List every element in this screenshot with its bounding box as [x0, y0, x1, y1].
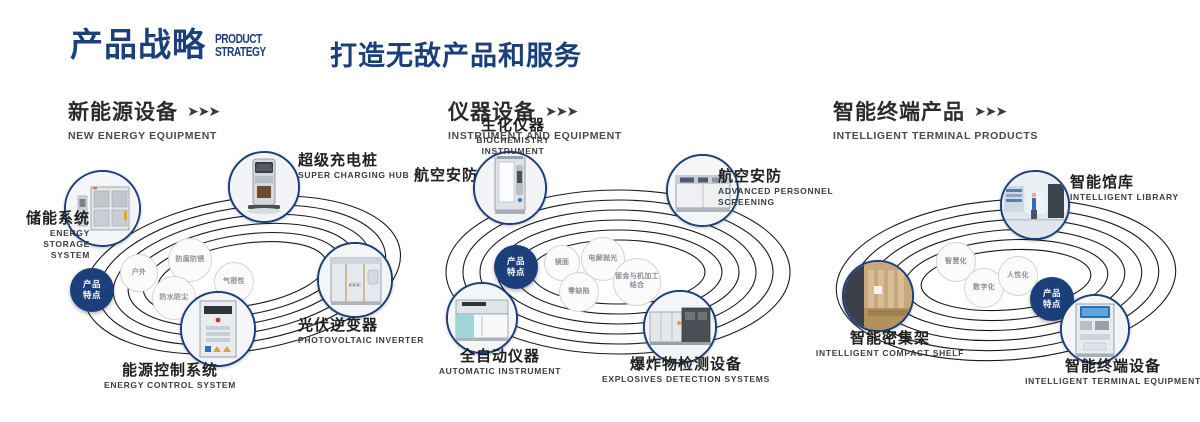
core-label-line1: 产品 — [1043, 288, 1061, 299]
node-photovoltaic-inverter[interactable] — [317, 242, 393, 318]
page-header: 产品战略 PRODUCT STRATEGY — [70, 28, 280, 61]
library-interior-photo — [1002, 172, 1068, 238]
page-title: 产品战略 — [70, 28, 206, 61]
node-label-cn: 智能终端设备 — [1018, 358, 1200, 375]
inverter-cabinet-photo — [319, 244, 391, 316]
node-label-intelligent-library: 智能馆库 INTELLIGENT LIBRARY — [1070, 174, 1200, 203]
compact-shelf-photo — [844, 262, 912, 330]
cluster-new-energy: 防腐防锈 户外 防水防尘 气密性 产品 特点 储能系 — [40, 150, 440, 400]
node-label-photovoltaic-inverter: 光伏逆变器 PHOTOVOLTAIC INVERTER — [298, 317, 438, 346]
node-label-cn: 爆炸物检测设备 — [596, 356, 776, 373]
node-label-cn: 全自动仪器 — [410, 348, 590, 365]
control-cabinet-photo — [182, 293, 254, 365]
node-label-en: INTELLIGENT COMPACT SHELF — [800, 348, 980, 359]
title-en-line2: STRATEGY — [215, 46, 266, 58]
charging-pile-photo — [230, 153, 298, 221]
section-title-cn: 新能源设备 — [68, 96, 178, 126]
node-label-energy-storage: 储能系统 ENERGY STORAGE SYSTEM — [8, 210, 90, 260]
node-label-en: INTELLIGENT TERMINAL EQUIPMENT — [1018, 376, 1200, 387]
node-label-cn: 生化仪器 — [448, 117, 578, 134]
feature-bubble: 户外 — [120, 254, 158, 292]
core-bubble-product-features: 产品 特点 — [70, 268, 114, 312]
node-label-cn: 智能馆库 — [1070, 174, 1200, 191]
core-bubble-product-features: 产品 特点 — [494, 245, 538, 289]
chevron-triple-icon: ➤➤➤ — [187, 103, 219, 120]
automatic-analyzer-photo — [448, 284, 516, 352]
node-label-en: ENERGY STORAGE SYSTEM — [8, 228, 90, 260]
section-title-cn: 智能终端产品 — [833, 96, 965, 126]
node-super-charging-hub[interactable] — [228, 151, 300, 223]
section-title-en: NEW ENERGY EQUIPMENT — [68, 130, 219, 142]
node-label-cn: 储能系统 — [8, 210, 90, 227]
node-label-cn: 能源控制系统 — [80, 362, 260, 379]
biochemistry-scanner-photo — [475, 153, 545, 223]
node-automatic-instrument[interactable] — [446, 282, 518, 354]
node-biochemistry-instrument[interactable] — [473, 151, 547, 225]
core-label-line2: 特点 — [507, 267, 525, 278]
node-label-aviation-security-left: 航空安防 — [396, 167, 478, 184]
node-label-cn: 智能密集架 — [800, 330, 980, 347]
node-label-explosives-detection: 爆炸物检测设备 EXPLOSIVES DETECTION SYSTEMS — [596, 356, 776, 385]
section-heading-intelligent: 智能终端产品➤➤➤ INTELLIGENT TERMINAL PRODUCTS — [833, 96, 1038, 142]
feature-bubble: 钣金与机加工结合 — [613, 258, 661, 306]
product-strategy-infographic: 产品战略 PRODUCT STRATEGY 打造无敌产品和服务 新能源设备➤➤➤… — [0, 0, 1200, 422]
section-heading-new-energy: 新能源设备➤➤➤ NEW ENERGY EQUIPMENT — [68, 96, 219, 142]
core-label-line2: 特点 — [1043, 299, 1061, 310]
node-label-intelligent-compact-shelf: 智能密集架 INTELLIGENT COMPACT SHELF — [800, 330, 980, 359]
node-label-en: ENERGY CONTROL SYSTEM — [80, 380, 260, 391]
core-label-line1: 产品 — [83, 279, 101, 290]
node-label-en: AUTOMATIC INSTRUMENT — [410, 366, 590, 377]
node-intelligent-compact-shelf[interactable] — [842, 260, 914, 332]
core-label-line2: 特点 — [83, 290, 101, 301]
feature-bubble: 零缺陷 — [559, 272, 599, 312]
chevron-triple-icon: ➤➤➤ — [974, 103, 1006, 120]
node-label-cn: 光伏逆变器 — [298, 317, 438, 334]
node-label-en: INTELLIGENT LIBRARY — [1070, 192, 1200, 203]
page-title-english: PRODUCT STRATEGY — [215, 33, 266, 61]
node-label-automatic-instrument: 全自动仪器 AUTOMATIC INSTRUMENT — [410, 348, 590, 377]
node-label-en: EXPLOSIVES DETECTION SYSTEMS — [596, 374, 776, 385]
node-explosives-detection[interactable] — [643, 290, 717, 364]
cluster-intelligent-terminal: 智慧化 数字化 人性化 产品 特点 智能馆 — [808, 152, 1200, 402]
cluster-instrument: 镜面 电解抛光 零缺陷 钣金与机加工结合 产品 特点 航空安防 — [418, 150, 818, 400]
node-label-energy-control-system: 能源控制系统 ENERGY CONTROL SYSTEM — [80, 362, 260, 391]
node-intelligent-terminal-equipment[interactable] — [1060, 294, 1130, 364]
node-label-biochemistry-instrument: 生化仪器 BIOCHEMISTRY INSTRUMENT — [448, 117, 578, 157]
explosive-detector-photo — [645, 292, 715, 362]
page-subtitle: 打造无敌产品和服务 — [330, 34, 582, 73]
section-title-en: INTELLIGENT TERMINAL PRODUCTS — [833, 130, 1038, 142]
node-label-en: BIOCHEMISTRY INSTRUMENT — [448, 135, 578, 156]
node-label-en: PHOTOVOLTAIC INVERTER — [298, 335, 438, 346]
node-intelligent-library[interactable] — [1000, 170, 1070, 240]
core-label-line1: 产品 — [507, 256, 525, 267]
node-label-intelligent-terminal-equipment: 智能终端设备 INTELLIGENT TERMINAL EQUIPMENT — [1018, 358, 1200, 387]
node-label-cn: 航空安防 — [396, 167, 478, 184]
terminal-kiosk-photo — [1062, 296, 1128, 362]
node-energy-control-system[interactable] — [180, 291, 256, 367]
